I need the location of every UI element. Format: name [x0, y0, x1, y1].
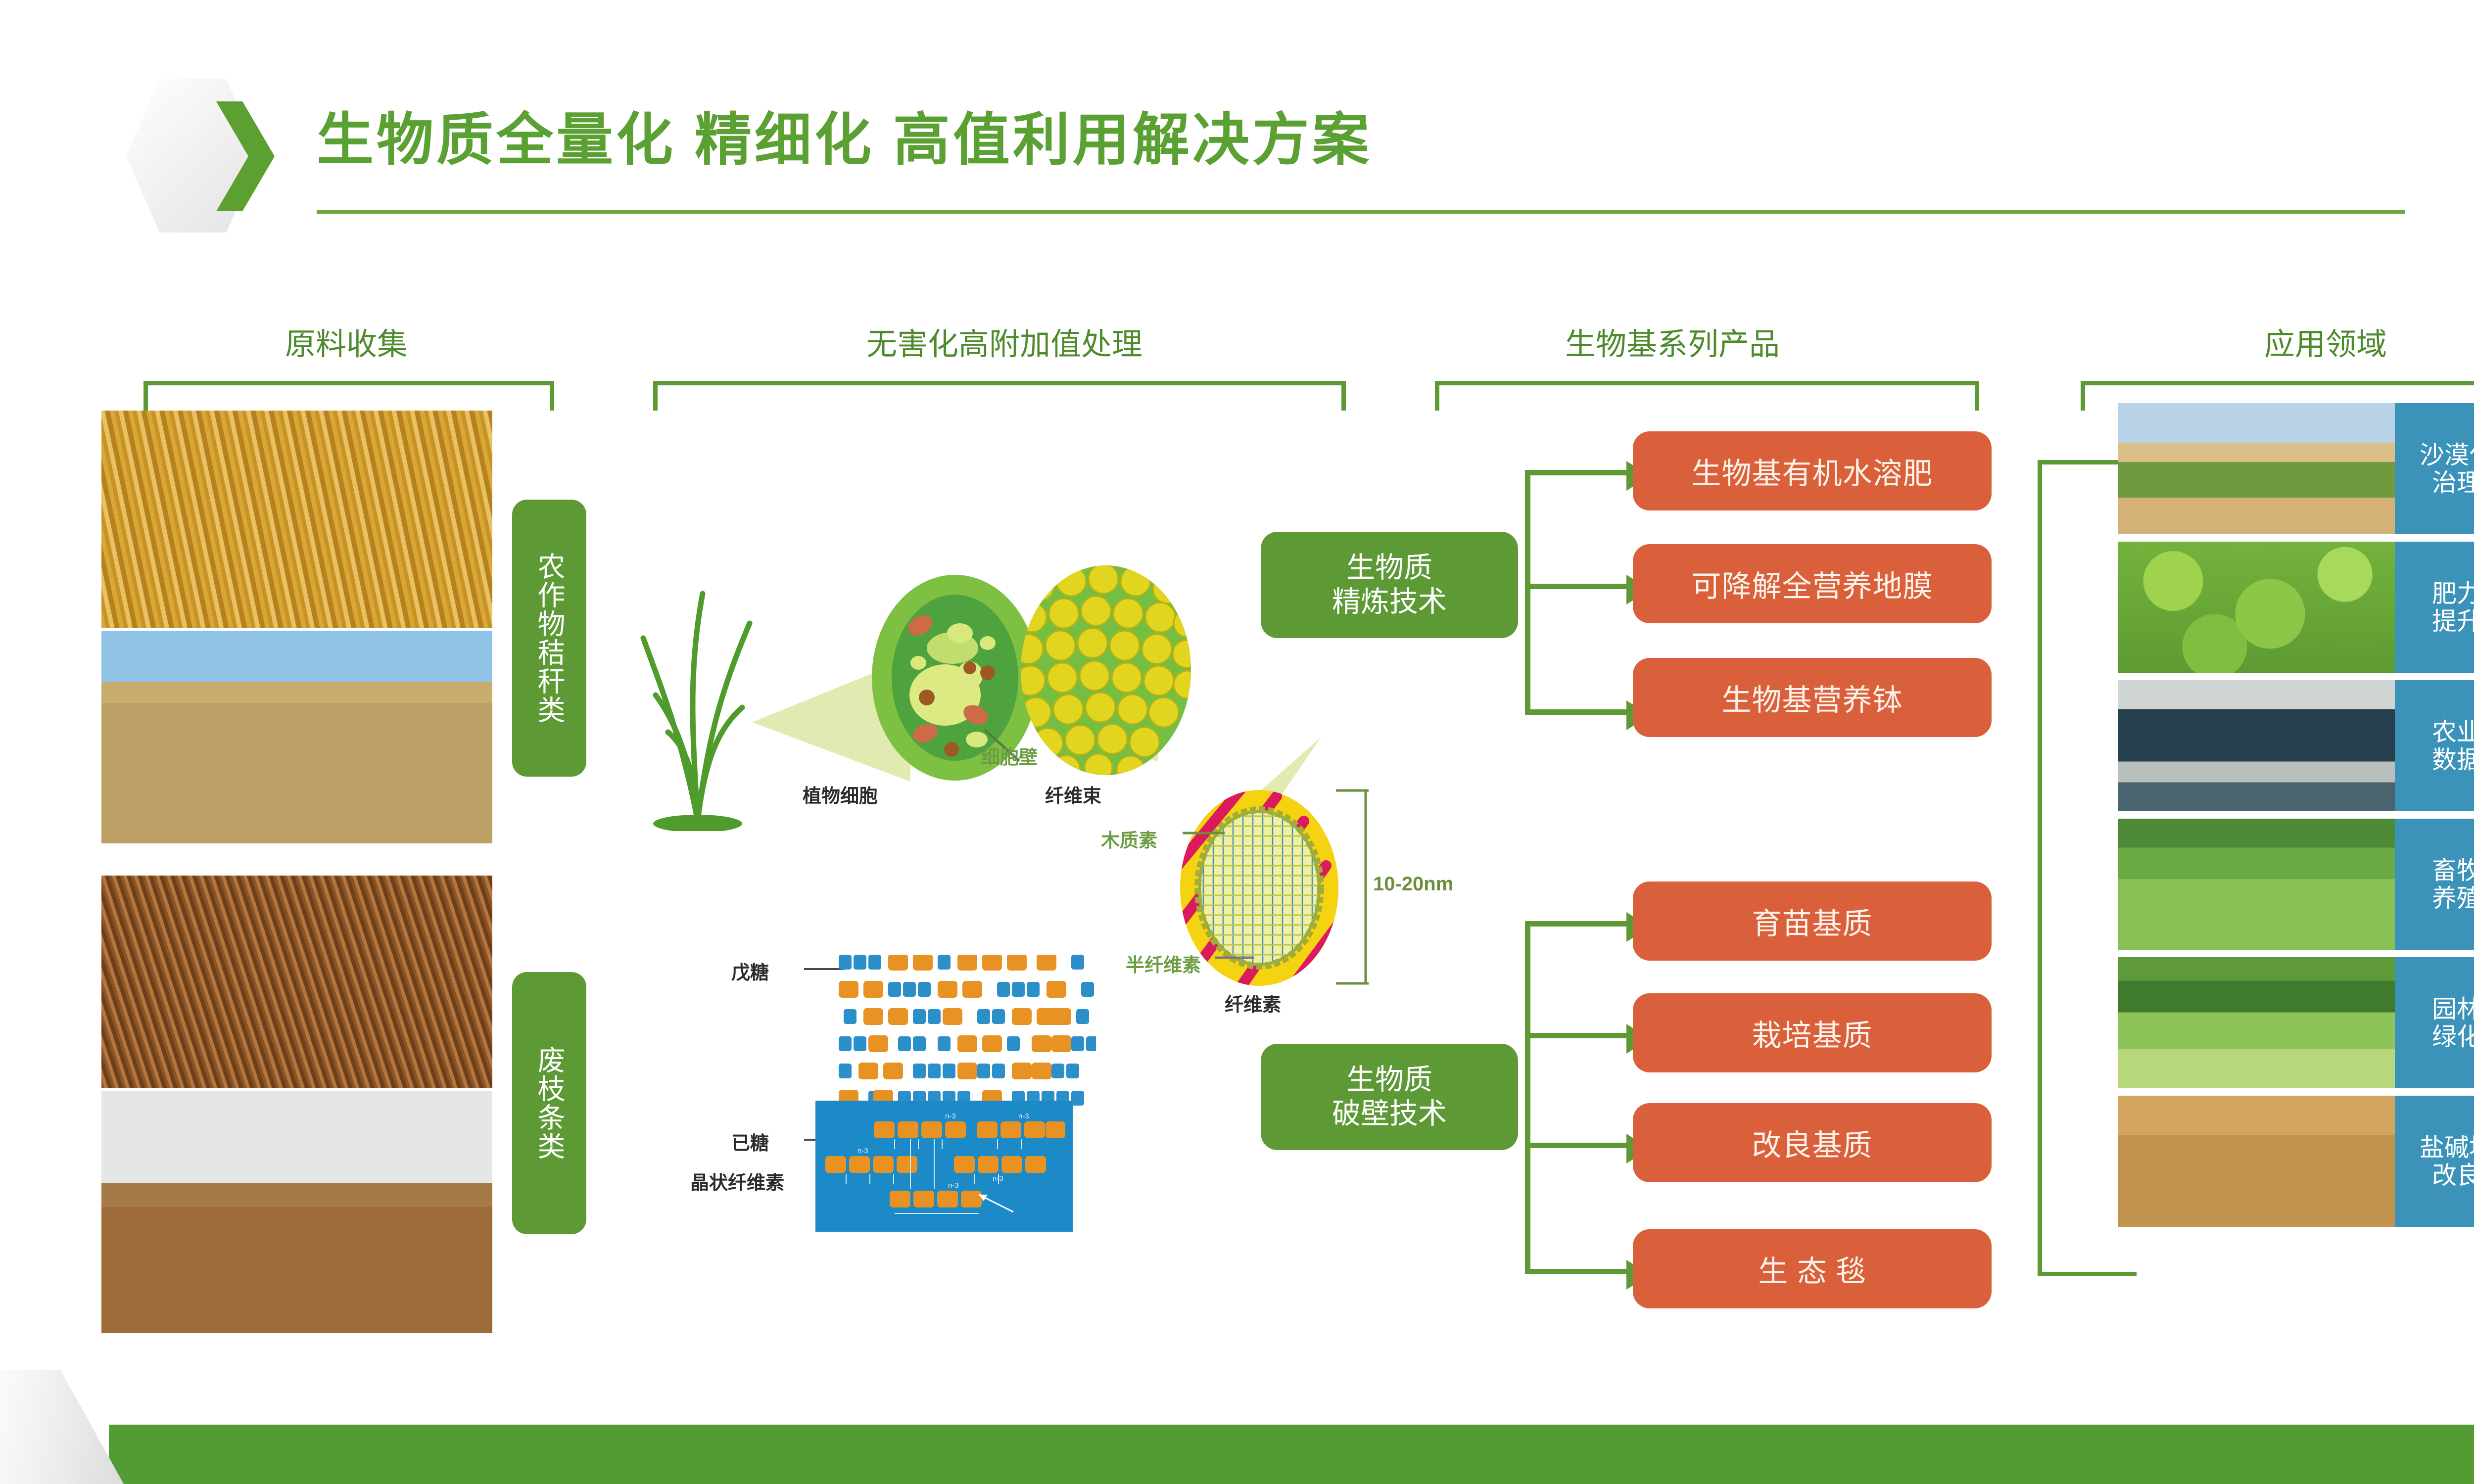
cellulose-label: 纤维素	[1225, 989, 1281, 1017]
wallbreak-connector-branch-3	[1525, 1143, 1631, 1148]
product-label: 生物基有机水溶肥	[1692, 450, 1933, 493]
refining-connector-branch-1	[1525, 470, 1631, 475]
straw-bale-field-photo	[101, 631, 492, 843]
bracket-collect	[143, 381, 554, 411]
product-box-improvement-substrate[interactable]: 改良基质	[1633, 1103, 1992, 1182]
pentose-label: 戊糖	[731, 957, 769, 984]
application-row-landscape[interactable]: 园林绿化	[2118, 957, 2474, 1088]
cell-wall-label: 细胞壁	[981, 742, 1038, 769]
hemicellulose-leader-line	[1215, 956, 1254, 960]
waste-branch-tag-label: 废枝条类	[534, 1046, 564, 1160]
sheep-grassland-photo	[2118, 819, 2395, 950]
svg-text:n-3: n-3	[857, 1147, 868, 1155]
section-title-collect: 原料收集	[188, 319, 505, 364]
refining-connector-branch-2	[1525, 584, 1631, 589]
cabbage-field-photo	[2118, 542, 2395, 673]
saline-soil-photo	[2118, 1096, 2395, 1227]
biomass-refining-tech-box[interactable]: 生物质 精炼技术	[1261, 532, 1518, 638]
pentose-leader-line	[804, 967, 844, 971]
control-room-photo	[2118, 680, 2395, 811]
product-label: 生物基营养钵	[1722, 676, 1903, 719]
footer-wedge-decoration	[0, 1370, 124, 1484]
application-row-agri-data[interactable]: 农业数据	[2118, 680, 2474, 811]
application-row-livestock[interactable]: 畜牧养殖	[2118, 819, 2474, 950]
biomass-wall-breaking-tech-box[interactable]: 生物质 破壁技术	[1261, 1044, 1518, 1150]
section-title-products: 生物基系列产品	[1425, 319, 1920, 364]
pruned-branches-photo	[101, 876, 492, 1088]
corn-straw-closeup-photo	[101, 411, 492, 628]
product-label: 生 态 毯	[1758, 1248, 1866, 1291]
product-label: 栽培基质	[1752, 1012, 1873, 1055]
application-row-saline[interactable]: 盐碱地改良	[2118, 1096, 2474, 1227]
product-box-seedling-substrate[interactable]: 育苗基质	[1633, 881, 1992, 961]
bracket-process	[653, 381, 1346, 411]
tech-label-line2: 精炼技术	[1332, 585, 1447, 619]
svg-text:n-3: n-3	[993, 1174, 1003, 1183]
svg-text:n-3: n-3	[1018, 1112, 1029, 1120]
plant-cell-label: 植物细胞	[803, 781, 878, 808]
product-label: 可降解全营养地膜	[1692, 562, 1933, 605]
tech-label-line2: 破壁技术	[1332, 1097, 1447, 1131]
application-label-saline: 盐碱地改良	[2395, 1096, 2474, 1227]
crystalline-cellulose-illustration: n-3n-3 n-3n-3 n-3	[815, 1101, 1073, 1232]
bracket-products	[1435, 381, 1979, 411]
section-title-process: 无害化高附加值处理	[708, 319, 1301, 364]
product-label: 育苗基质	[1752, 900, 1873, 943]
page-title: 生物质全量化 精细化 高值利用解决方案	[317, 94, 1372, 176]
application-row-fertility[interactable]: 肥力提升	[2118, 542, 2474, 673]
application-label-fertility: 肥力提升	[2395, 542, 2474, 673]
application-row-desertification[interactable]: 沙漠化治理	[2118, 403, 2474, 534]
hexose-label: 已糖	[731, 1128, 769, 1155]
hemicellulose-label: 半纤维素	[1126, 950, 1201, 977]
product-box-biodegradable-mulch[interactable]: 可降解全营养地膜	[1633, 544, 1992, 623]
svg-text:n-3: n-3	[948, 1181, 959, 1190]
fiber-bundle-illustration	[1019, 564, 1192, 777]
application-label-landscape: 园林绿化	[2395, 957, 2474, 1088]
crystalline-cellulose-label: 晶状纤维素	[690, 1167, 784, 1195]
lignin-leader-line	[1183, 831, 1225, 835]
product-box-cultivation-substrate[interactable]: 栽培基质	[1633, 993, 1992, 1072]
refining-connector-branch-3	[1525, 709, 1631, 715]
title-underline	[317, 210, 2405, 214]
hexagon-chevron-icon	[126, 79, 275, 232]
application-label-agri-data: 农业数据	[2395, 680, 2474, 811]
product-box-organic-fertilizer[interactable]: 生物基有机水溶肥	[1633, 431, 1992, 510]
crop-straw-tag-label: 农作物秸秆类	[534, 552, 564, 724]
footer-bar	[109, 1425, 2474, 1484]
lignin-label: 木质素	[1101, 825, 1157, 852]
application-label-livestock: 畜牧养殖	[2395, 819, 2474, 950]
grass-plant-icon	[628, 524, 767, 831]
wallbreak-connector-trunk	[1525, 921, 1530, 1274]
waste-branch-tag[interactable]: 废枝条类	[512, 972, 586, 1234]
product-label: 改良基质	[1752, 1121, 1873, 1164]
wallbreak-connector-branch-1	[1525, 921, 1631, 927]
application-label-desertification: 沙漠化治理	[2395, 403, 2474, 534]
fiber-dimension-label: 10-20nm	[1373, 873, 1453, 895]
refining-connector-trunk	[1525, 470, 1530, 715]
tech-label-line1: 生物质	[1346, 551, 1432, 585]
svg-text:n-3: n-3	[945, 1112, 956, 1120]
tech-label-line1: 生物质	[1346, 1063, 1432, 1097]
product-box-ecological-blanket[interactable]: 生 态 毯	[1633, 1229, 1992, 1308]
park-lawn-photo	[2118, 957, 2395, 1088]
wallbreak-connector-branch-2	[1525, 1033, 1631, 1038]
section-title-apply: 应用领域	[2138, 319, 2474, 364]
product-box-nutrition-pot[interactable]: 生物基营养钵	[1633, 658, 1992, 737]
fiber-bundle-label: 纤维束	[1045, 781, 1101, 808]
crop-straw-tag[interactable]: 农作物秸秆类	[512, 500, 586, 777]
desert-greening-photo	[2118, 403, 2395, 534]
wallbreak-connector-branch-4	[1525, 1269, 1631, 1274]
orchard-pruning-photo	[101, 1091, 492, 1333]
